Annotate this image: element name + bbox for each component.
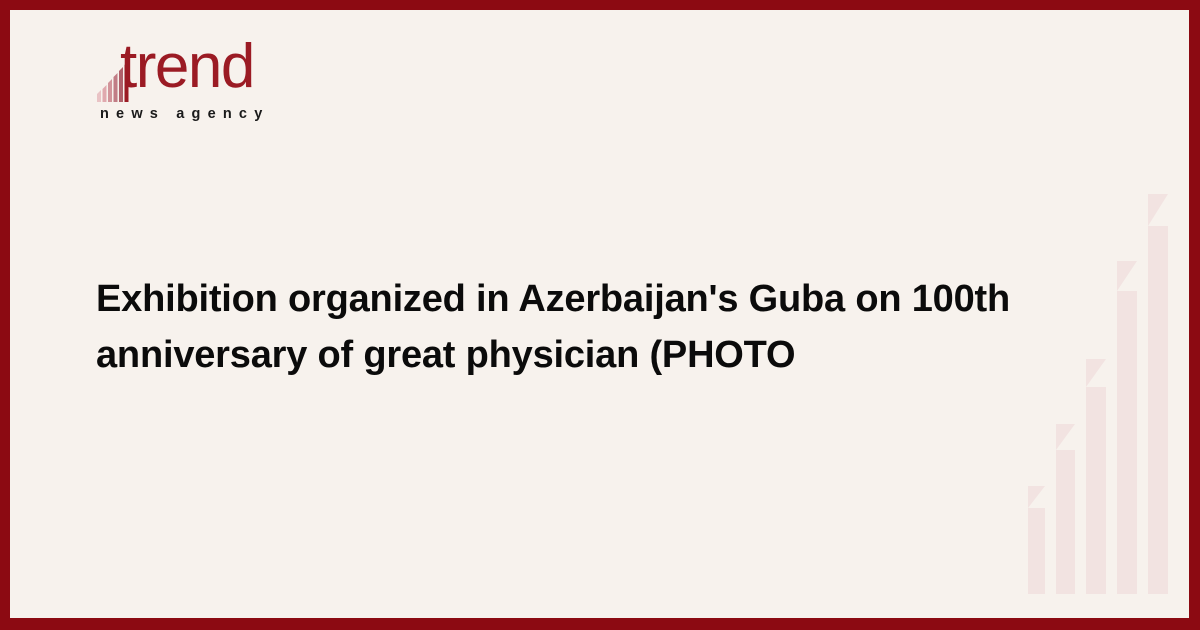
logo-wordmark: trend bbox=[120, 36, 254, 98]
article-headline: Exhibition organized in Azerbaijan's Gub… bbox=[96, 272, 1026, 384]
decorative-bar bbox=[1148, 194, 1168, 594]
bar-slant-cut bbox=[1056, 424, 1075, 450]
bar-slant-cut bbox=[1086, 359, 1106, 387]
bar-slant-cut bbox=[1148, 194, 1168, 226]
og-share-card: trend news agency Exhibition organized i… bbox=[0, 0, 1200, 630]
decorative-bar bbox=[1117, 261, 1137, 594]
decorative-bar bbox=[1056, 424, 1075, 594]
decorative-ascending-bars bbox=[1028, 164, 1180, 594]
decorative-bar bbox=[1028, 486, 1045, 594]
bar-slant-cut bbox=[1117, 261, 1137, 291]
trend-logo[interactable]: trend news agency bbox=[96, 48, 326, 134]
logo-tagline: news agency bbox=[100, 106, 269, 122]
decorative-bar bbox=[1086, 359, 1106, 594]
bar-slant-cut bbox=[1028, 486, 1045, 508]
card-canvas: trend news agency Exhibition organized i… bbox=[10, 10, 1189, 618]
